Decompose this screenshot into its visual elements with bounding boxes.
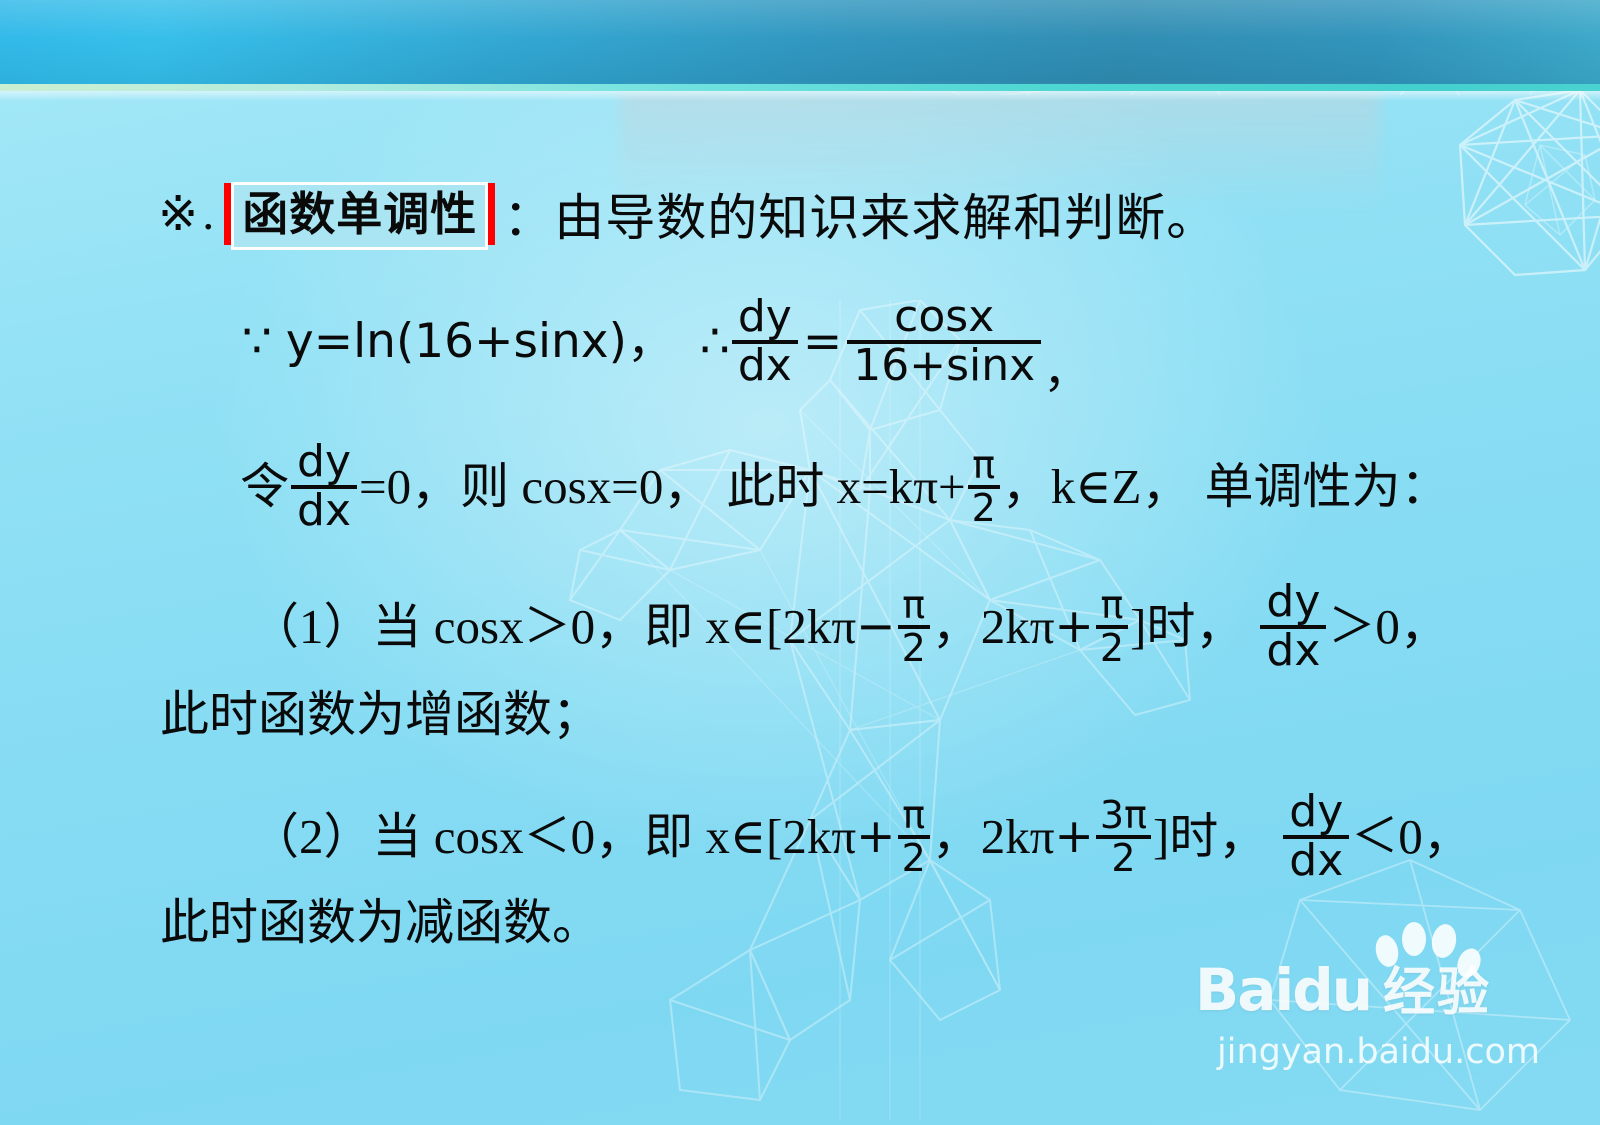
setzero-equals-zero: =0，则 cosx=0， [359, 462, 712, 511]
derivative-fraction: dy dx [732, 295, 798, 389]
case2-label: （2）当 cosx [250, 812, 524, 861]
setzero-k-text: ，k∈Z， [1002, 462, 1191, 511]
because-symbol: ∵ [242, 318, 272, 365]
highlighted-term: 函数单调性 [231, 182, 488, 250]
case1-end: 0， [1375, 602, 1449, 651]
case1-pi-over-two-left: π 2 [898, 586, 930, 667]
pi-numerator: π [968, 446, 999, 485]
setzero-tail: 单调性为： [1204, 462, 1449, 511]
equation-premise-row: ∵ y=ln(16+sinx)， ∴ dy dx = cosx 16+sinx … [242, 295, 1090, 389]
highlight-box: 函数单调性 [224, 183, 495, 246]
case1-interval-mid: ，2kπ [932, 602, 1055, 651]
result-numerator: cosx [888, 295, 1000, 340]
case2-less-sign: ＜ [524, 813, 571, 860]
pi-numerator: π [898, 586, 929, 625]
three-pi-numerator: 3π [1096, 796, 1151, 835]
case1-interval-start: 0，即 x∈[2kπ [571, 602, 857, 651]
derivative-numerator: dy [732, 295, 798, 340]
case1-interval-close: ]时， [1130, 602, 1244, 651]
heading-dot: . [202, 190, 214, 238]
case1-conclusion: 此时函数为增函数； [160, 690, 601, 739]
two-denominator: 2 [898, 839, 930, 878]
setzero-fraction: dy dx [291, 440, 357, 534]
premise-trailing-comma: ， [1043, 348, 1090, 395]
case2-interval-close: ]时， [1153, 812, 1267, 861]
pi-numerator: π [898, 796, 929, 835]
case2-plus-sign-right: + [1055, 813, 1094, 860]
case2-end: 0， [1398, 812, 1472, 861]
pi-numerator: π [1097, 586, 1128, 625]
slide-canvas: ※ . 函数单调性 ：由导数的知识来求解和判断。 ∵ y=ln(16+sinx)… [0, 0, 1600, 1125]
equation-case2-row: （2）当 cosx ＜ 0，即 x∈[2kπ + π 2 ，2kπ + 3π 2… [250, 790, 1472, 884]
case1-relation-sign: ＞ [1328, 603, 1375, 650]
derivative-numerator: dy [1283, 790, 1349, 835]
two-denominator: 2 [898, 629, 930, 668]
heading-tail-text: ：由导数的知识来求解和判断。 [503, 178, 1217, 250]
derivative-denominator: dx [1260, 629, 1326, 674]
setzero-numerator: dy [291, 440, 357, 485]
case2-conclusion: 此时函数为减函数。 [160, 898, 601, 947]
case2-interval-mid: ，2kπ [932, 812, 1055, 861]
equation-case1-row: （1）当 cosx ＞ 0，即 x∈[2kπ − π 2 ，2kπ + π 2 … [250, 580, 1449, 674]
case1-pi-over-two-right: π 2 [1096, 586, 1128, 667]
case1-plus-sign: + [1055, 603, 1094, 650]
equals-sign: = [803, 318, 842, 365]
derivative-denominator: dx [1283, 839, 1349, 884]
case1-derivative-fraction: dy dx [1260, 580, 1326, 674]
equation-setzero-row: 令 dy dx =0，则 cosx=0， 此时 x=kπ+ π 2 ，k∈Z， … [240, 440, 1450, 534]
case2-derivative-fraction: dy dx [1283, 790, 1349, 884]
two-denominator: 2 [1107, 839, 1139, 878]
case2-relation-sign: ＜ [1351, 813, 1398, 860]
derivative-numerator: dy [1260, 580, 1326, 625]
two-denominator: 2 [1096, 629, 1128, 668]
setzero-then-text: 此时 x=kπ+ [726, 462, 965, 511]
pi-over-two-fraction: π 2 [968, 446, 1000, 527]
case1-minus-sign: − [856, 603, 895, 650]
result-denominator: 16+sinx [847, 344, 1041, 389]
premise-expression: y=ln(16+sinx)， [286, 318, 674, 365]
slide-heading: ※ . 函数单调性 ：由导数的知识来求解和判断。 [158, 178, 1217, 250]
therefore-symbol: ∴ [700, 318, 730, 365]
result-fraction: cosx 16+sinx [847, 295, 1041, 389]
case2-pi-over-two-left: π 2 [898, 796, 930, 877]
case2-interval-start: 0，即 x∈[2kπ [571, 812, 857, 861]
slide-content: ※ . 函数单调性 ：由导数的知识来求解和判断。 ∵ y=ln(16+sinx)… [0, 0, 1600, 1125]
two-denominator: 2 [968, 489, 1000, 528]
case2-three-pi-over-two: 3π 2 [1096, 796, 1151, 877]
derivative-denominator: dx [732, 344, 798, 389]
case1-greater-sign: ＞ [524, 603, 571, 650]
case1-label: （1）当 cosx [250, 602, 524, 651]
case2-plus-sign-left: + [856, 813, 895, 860]
setzero-denominator: dx [291, 489, 357, 534]
reference-mark-icon: ※ [158, 190, 198, 238]
setzero-lead: 令 [240, 462, 289, 511]
